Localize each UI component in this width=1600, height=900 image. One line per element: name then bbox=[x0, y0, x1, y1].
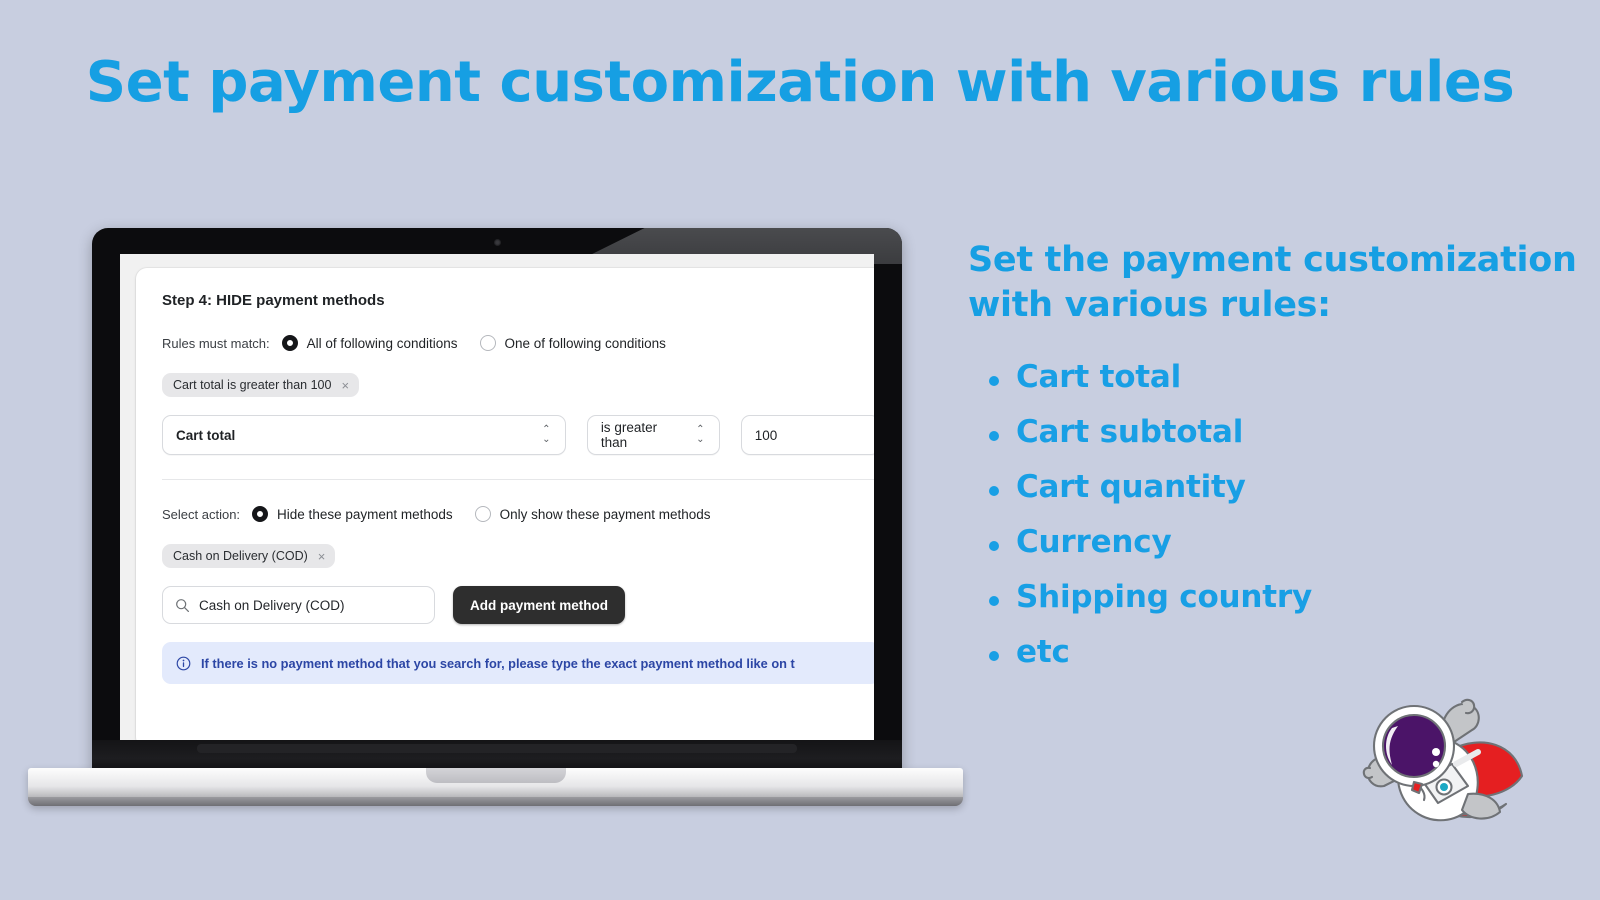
features-list: Cart total Cart subtotal Cart quantity C… bbox=[968, 350, 1588, 681]
list-item: Cart quantity bbox=[1016, 460, 1588, 515]
select-action-label: Select action: bbox=[162, 507, 240, 522]
features-heading: Set the payment customization with vario… bbox=[968, 238, 1588, 328]
rules-match-row: Rules must match: All of following condi… bbox=[136, 335, 874, 351]
rules-match-label: Rules must match: bbox=[162, 336, 270, 351]
condition-operator-value: is greater than bbox=[601, 420, 686, 450]
radio-hide-methods-indicator[interactable] bbox=[252, 506, 268, 522]
condition-chip-row: Cart total is greater than 100 × bbox=[136, 373, 874, 397]
payment-method-chip[interactable]: Cash on Delivery (COD) × bbox=[162, 544, 335, 568]
payment-method-chip-label: Cash on Delivery (COD) bbox=[173, 549, 308, 563]
features-panel: Set the payment customization with vario… bbox=[968, 238, 1588, 681]
info-banner-text: If there is no payment method that you s… bbox=[201, 656, 795, 671]
webcam-icon bbox=[494, 239, 501, 246]
close-icon[interactable]: × bbox=[318, 550, 326, 563]
chevron-updown-icon: ⌃⌄ bbox=[541, 425, 552, 446]
radio-only-show-methods[interactable]: Only show these payment methods bbox=[475, 506, 711, 522]
laptop-screen: Step 4: HIDE payment methods Rules must … bbox=[120, 254, 874, 750]
condition-amount-input[interactable]: 100 bbox=[741, 415, 874, 455]
chevron-updown-icon: ⌃⌄ bbox=[695, 425, 706, 446]
condition-controls-row: Cart total ⌃⌄ is greater than ⌃⌄ 100 bbox=[136, 415, 874, 455]
info-banner: If there is no payment method that you s… bbox=[162, 642, 874, 684]
select-action-row: Select action: Hide these payment method… bbox=[136, 506, 874, 522]
radio-all-conditions[interactable]: All of following conditions bbox=[282, 335, 458, 351]
page-title: Set payment customization with various r… bbox=[0, 50, 1600, 115]
condition-chip[interactable]: Cart total is greater than 100 × bbox=[162, 373, 359, 397]
trackpad-notch bbox=[426, 768, 566, 783]
condition-field-value: Cart total bbox=[176, 428, 235, 443]
list-item: Cart total bbox=[1016, 350, 1588, 405]
laptop-lid: Step 4: HIDE payment methods Rules must … bbox=[92, 228, 902, 773]
laptop-mockup: Step 4: HIDE payment methods Rules must … bbox=[28, 228, 963, 803]
radio-only-show-methods-indicator[interactable] bbox=[475, 506, 491, 522]
radio-one-condition-label: One of following conditions bbox=[505, 336, 666, 351]
radio-all-conditions-label: All of following conditions bbox=[307, 336, 458, 351]
laptop-base bbox=[28, 768, 963, 806]
radio-hide-methods[interactable]: Hide these payment methods bbox=[252, 506, 453, 522]
list-item: Currency bbox=[1016, 515, 1588, 570]
radio-one-condition[interactable]: One of following conditions bbox=[480, 335, 666, 351]
section-divider bbox=[162, 479, 874, 480]
condition-amount-value: 100 bbox=[755, 428, 778, 443]
radio-only-show-methods-label: Only show these payment methods bbox=[500, 507, 711, 522]
radio-hide-methods-label: Hide these payment methods bbox=[277, 507, 453, 522]
radio-one-condition-indicator[interactable] bbox=[480, 335, 496, 351]
rules-match-radio-group[interactable]: All of following conditions One of follo… bbox=[282, 335, 666, 351]
close-icon[interactable]: × bbox=[341, 379, 349, 392]
card-title: Step 4: HIDE payment methods bbox=[136, 292, 874, 309]
select-action-radio-group[interactable]: Hide these payment methods Only show the… bbox=[252, 506, 710, 522]
payment-method-search-input[interactable]: Cash on Delivery (COD) bbox=[162, 586, 435, 624]
condition-operator-select[interactable]: is greater than ⌃⌄ bbox=[587, 415, 720, 455]
list-item: Shipping country bbox=[1016, 570, 1588, 625]
condition-field-select[interactable]: Cart total ⌃⌄ bbox=[162, 415, 566, 455]
payment-rule-card: Step 4: HIDE payment methods Rules must … bbox=[136, 268, 874, 748]
astronaut-superhero-mascot bbox=[1330, 672, 1530, 837]
list-item: Cart subtotal bbox=[1016, 405, 1588, 460]
info-circle-icon bbox=[176, 656, 191, 671]
payment-method-search-row: Cash on Delivery (COD) Add payment metho… bbox=[136, 586, 874, 624]
method-chip-row: Cash on Delivery (COD) × bbox=[136, 544, 874, 568]
radio-all-conditions-indicator[interactable] bbox=[282, 335, 298, 351]
search-icon bbox=[175, 598, 190, 613]
condition-chip-label: Cart total is greater than 100 bbox=[173, 378, 331, 392]
payment-method-search-value: Cash on Delivery (COD) bbox=[199, 598, 345, 613]
hinge-notch bbox=[197, 744, 797, 753]
add-payment-method-button[interactable]: Add payment method bbox=[453, 586, 625, 624]
base-shadow bbox=[28, 797, 963, 806]
